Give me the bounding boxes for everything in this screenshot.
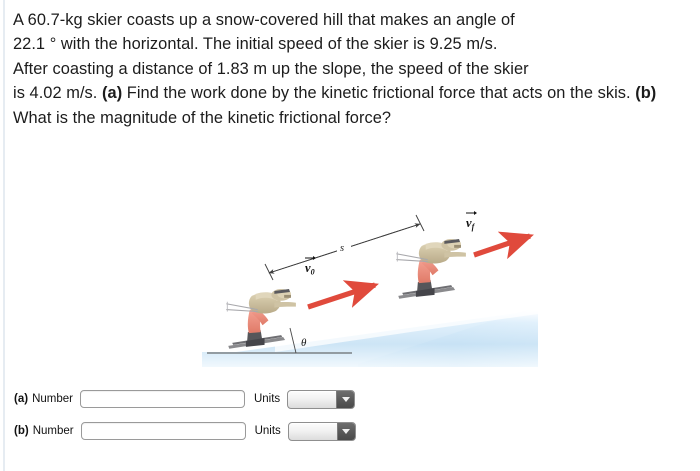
answer-a-number-input[interactable] [80,390,245,408]
answer-b-units-label: Units [255,425,281,437]
part-a-text: Find the work done by the kinetic fricti… [122,84,635,102]
problem-line-4-prefix: is 4.02 m/s. [13,84,102,102]
distance-label-s: s [340,243,344,254]
angle-theta-label: θ [301,337,307,349]
arm-upper [444,252,466,258]
distance-leader: s [265,215,424,280]
arm-lower [274,302,296,308]
velocity-vector-initial: v0 [305,256,375,307]
answer-a-part-label: (a) [14,393,28,405]
skier-incline-diagram: θ s [180,182,540,367]
skier-lower [226,289,296,349]
problem-line-2: 22.1 ° with the horizontal. The initial … [13,35,497,53]
part-a-marker: (a) [102,84,122,102]
chevron-down-icon[interactable] [337,423,355,440]
velocity-vector-final: vf [466,211,530,255]
problem-line-1: A 60.7-kg skier coasts up a snow-covered… [13,11,515,29]
answer-a-units-label: Units [254,393,280,405]
answer-row-a: (a) Number Units [14,389,355,409]
left-edge-rule [3,0,5,471]
answer-a-number-label: Number [32,393,73,405]
answer-b-number-label: Number [33,425,74,437]
answer-row-b: (b) Number Units [14,421,356,441]
velocity-initial-label: v0 [305,261,315,277]
answer-a-units-select[interactable] [287,390,355,409]
part-b-marker: (b) [635,84,656,102]
problem-line-3: After coasting a distance of 1.83 m up t… [13,60,529,78]
chevron-down-icon[interactable] [336,391,354,408]
skier-upper [396,239,466,299]
velocity-initial-subscript: 0 [311,268,315,277]
velocity-final-label: vf [466,216,476,232]
answer-b-number-input[interactable] [81,422,246,440]
problem-statement: A 60.7-kg skier coasts up a snow-covered… [13,8,691,130]
velocity-final-subscript: f [472,223,476,232]
answer-b-part-label: (b) [14,425,29,437]
answer-b-units-select[interactable] [288,422,356,441]
